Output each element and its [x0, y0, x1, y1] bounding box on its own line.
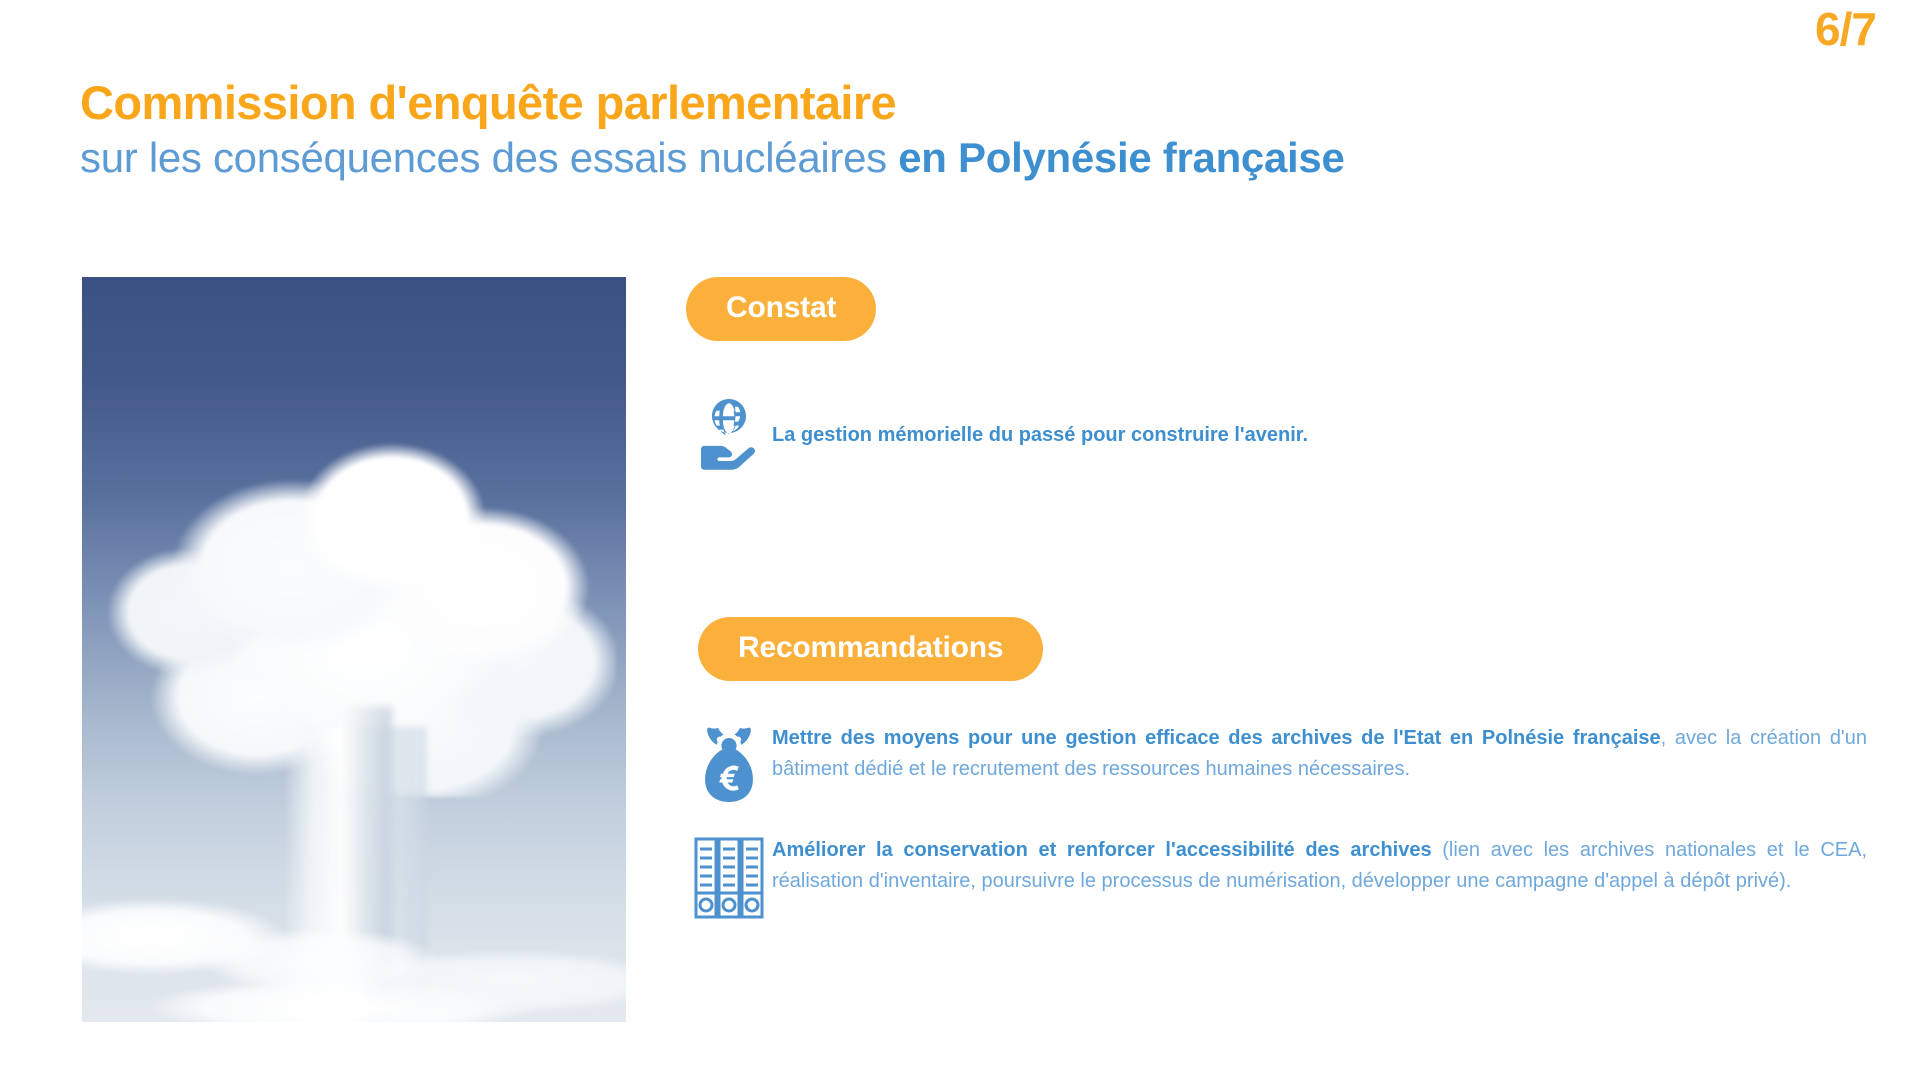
cloud-base-layer	[82, 867, 626, 1022]
page-title: Commission d'enquête parlementaire	[80, 78, 1840, 128]
recommendation-paragraph-1: Mettre des moyens pour une gestion effic…	[772, 719, 1867, 785]
recommendation-paragraph-2: Améliorer la conservation et renforcer l…	[772, 831, 1867, 897]
mushroom-cloud-photo	[82, 277, 626, 1022]
recommendation-item-1: Mettre des moyens pour une gestion effic…	[686, 719, 1856, 805]
recommendation-text-cell-1: Mettre des moyens pour une gestion effic…	[772, 719, 1867, 785]
money-bag-euro-icon	[686, 719, 772, 805]
recommendation-1-bold: Mettre des moyens pour une gestion effic…	[772, 727, 1661, 749]
badge-constat: Constat	[686, 277, 876, 341]
subtitle-bold-part: en Polynésie française	[898, 134, 1344, 181]
page-subtitle: sur les conséquences des essais nucléair…	[80, 132, 1840, 183]
archive-binders-icon	[686, 831, 772, 921]
badge-recommandations: Recommandations	[698, 617, 1043, 681]
constat-text-cell: La gestion mémorielle du passé pour cons…	[772, 397, 1856, 449]
slide-header: Commission d'enquête parlementaire sur l…	[80, 78, 1840, 183]
recommendation-2-bold: Améliorer la conservation et renforcer l…	[772, 839, 1432, 861]
recommendation-item-2: Améliorer la conservation et renforcer l…	[686, 831, 1856, 921]
slide-root: 6/7 Commission d'enquête parlementaire s…	[0, 0, 1920, 1080]
subtitle-regular-part: sur les conséquences des essais nucléair…	[80, 134, 898, 181]
content-column: Constat La gestion mémorielle du passé p…	[686, 277, 1856, 921]
globe-in-hand-icon	[686, 397, 772, 471]
recommandations-badge-wrapper: Recommandations	[686, 617, 1856, 681]
page-number: 6/7	[1815, 2, 1876, 56]
recommendation-text-cell-2: Améliorer la conservation et renforcer l…	[772, 831, 1867, 897]
constat-item: La gestion mémorielle du passé pour cons…	[686, 397, 1856, 471]
constat-statement: La gestion mémorielle du passé pour cons…	[772, 397, 1856, 449]
